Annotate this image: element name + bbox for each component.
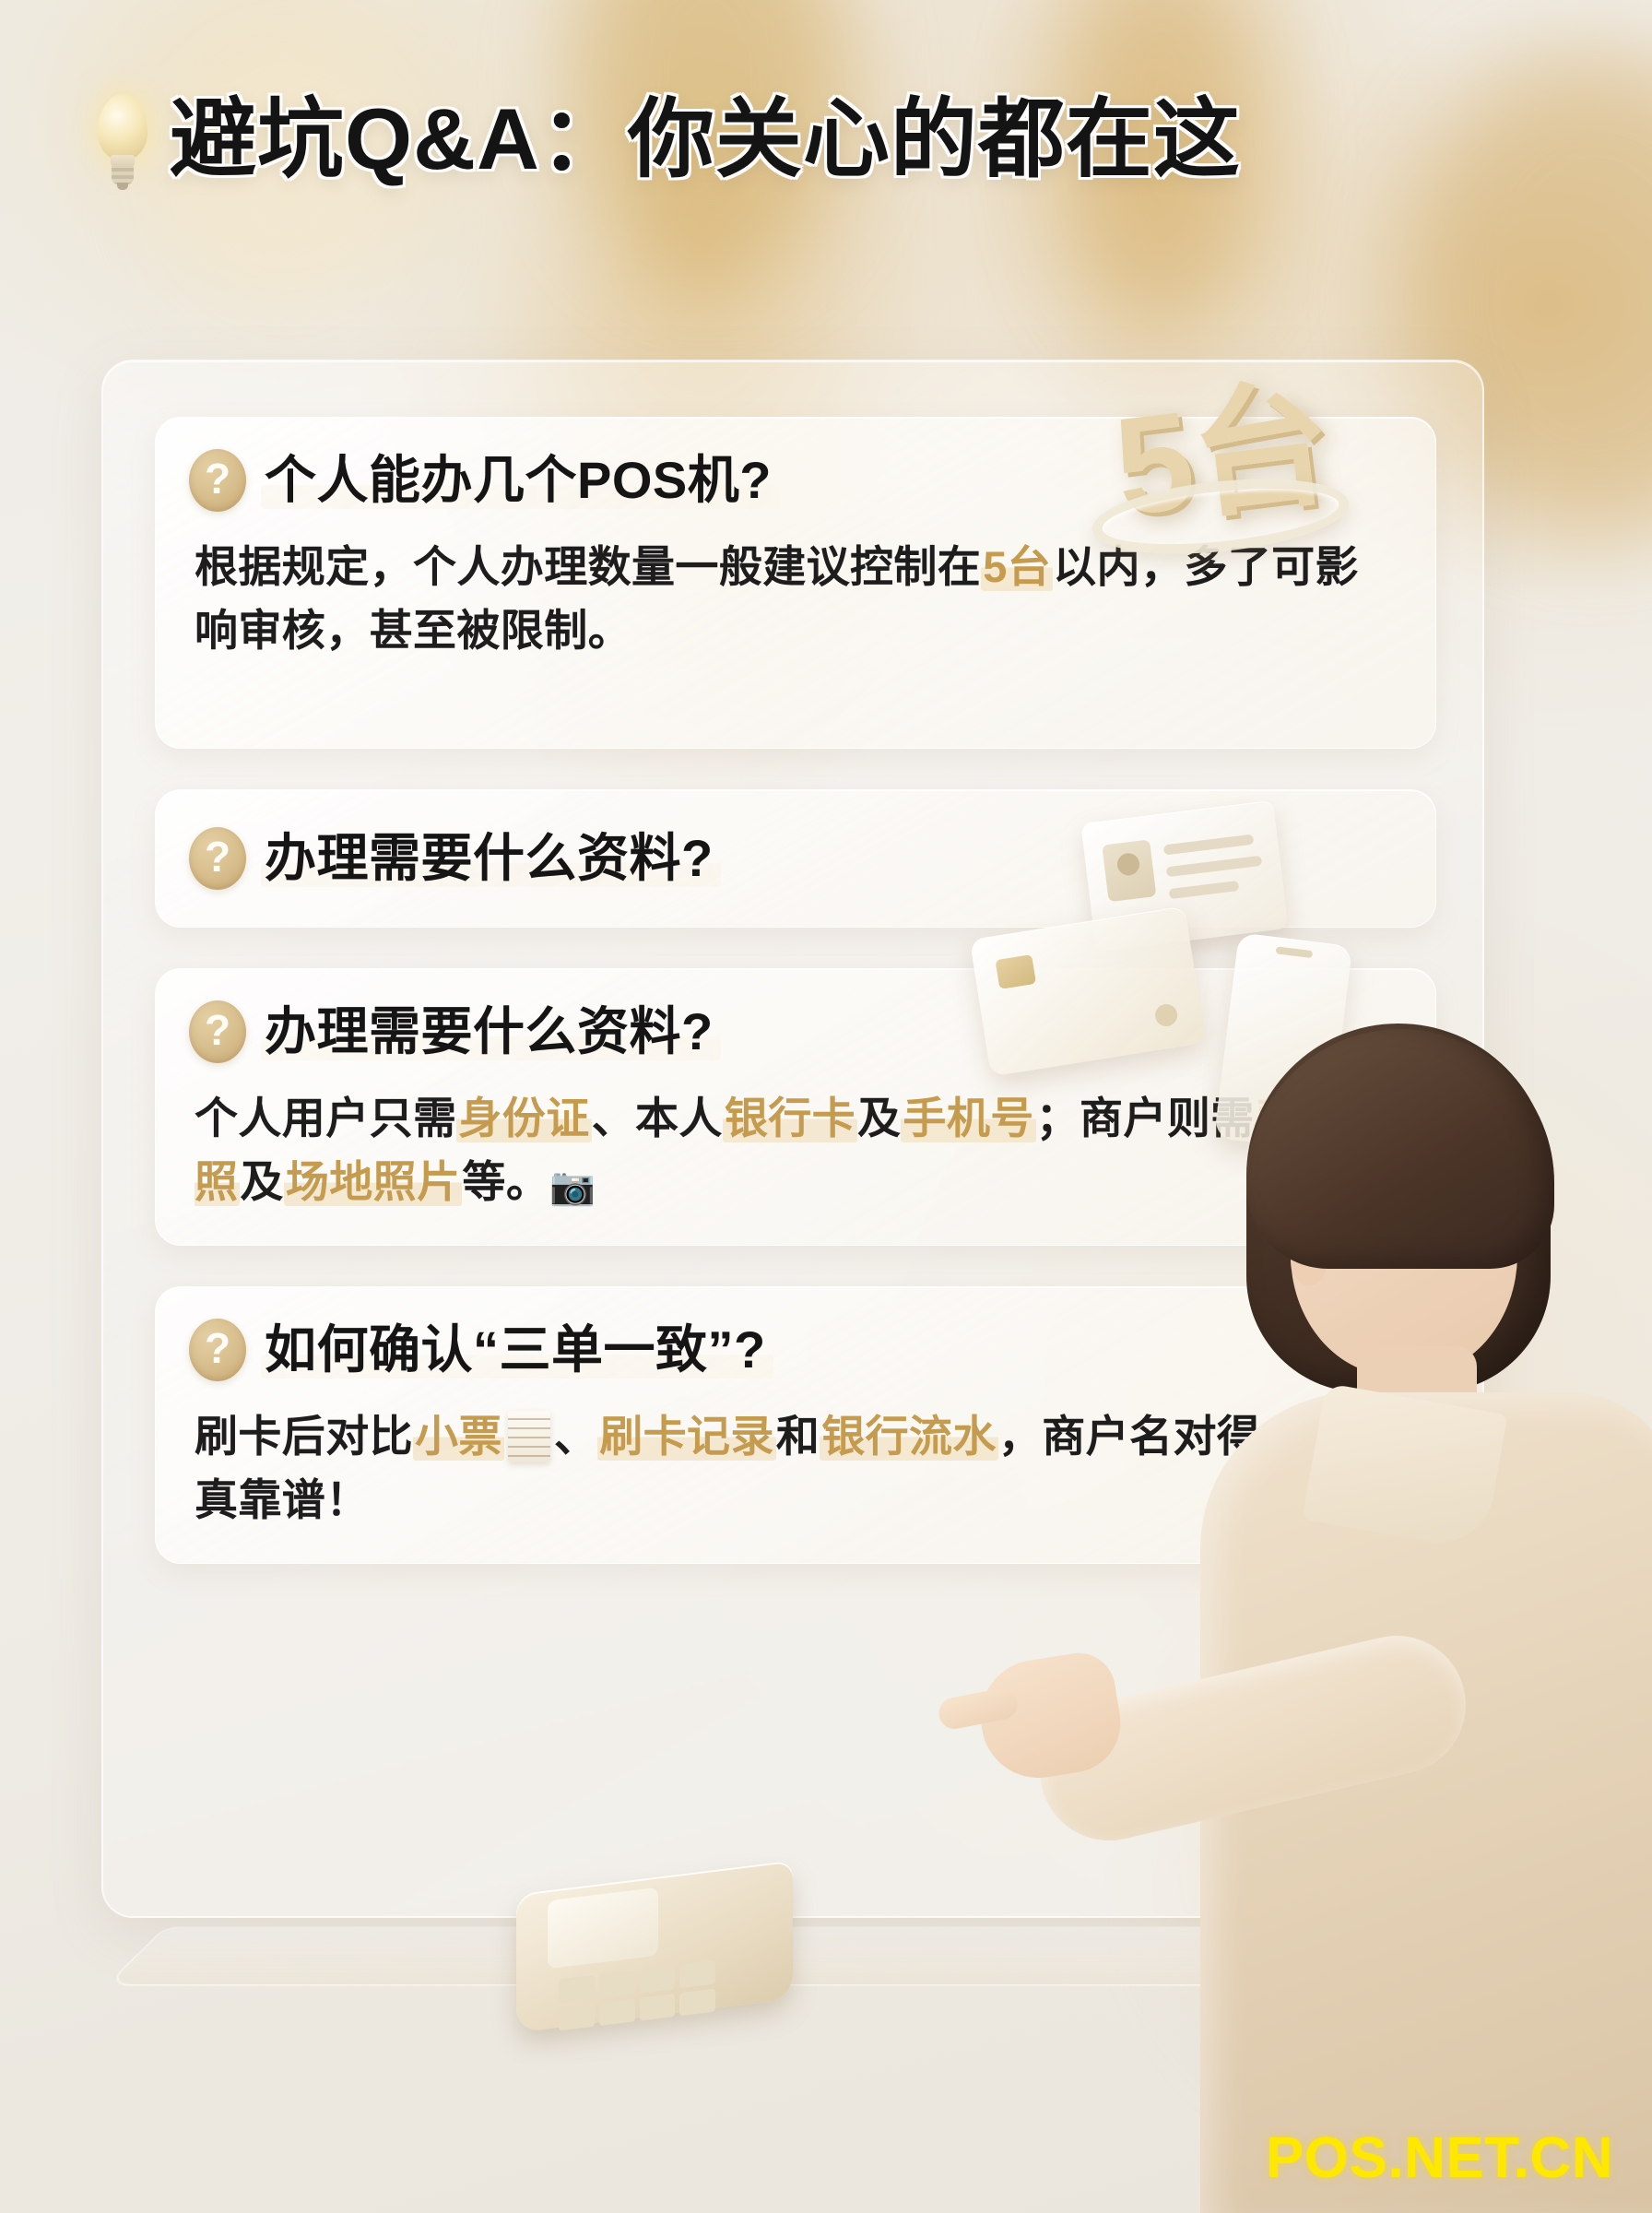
pos-key: [640, 1965, 676, 1993]
body-text-plain: 、本人: [592, 1094, 723, 1142]
page-title: 避坑Q&A：你关心的都在这: [170, 94, 1241, 185]
body-text-highlight: 5台: [981, 542, 1053, 591]
body-text-highlight: 刷卡记录: [597, 1412, 776, 1461]
bulb-base: [112, 164, 134, 184]
pos-key: [559, 2003, 595, 2030]
qa-card[interactable]: ? 办理需要什么资料?: [155, 789, 1436, 928]
pos-terminal-screen: [548, 1888, 658, 1970]
question-badge-icon: ?: [189, 827, 246, 890]
question-badge-icon: ?: [189, 1319, 246, 1381]
question-badge-icon: ?: [189, 449, 246, 512]
qa-card-title-text: 个人能办几个POS机?: [265, 451, 772, 509]
question-badge-icon: ?: [189, 1000, 246, 1063]
qa-card-title: 个人能办几个POS机?: [265, 449, 772, 511]
body-text-plain: 个人用户只需: [195, 1094, 456, 1142]
pos-key: [559, 1975, 595, 2003]
qa-card-header: ? 个人能办几个POS机?: [189, 449, 1395, 512]
pos-terminal-icon: [516, 1853, 820, 2029]
qa-card[interactable]: ? 个人能办几个POS机? 根据规定，个人办理数量一般建议控制在5台以内，多了可…: [155, 417, 1436, 749]
qa-card-title: 办理需要什么资料?: [265, 827, 714, 889]
body-text-highlight: 场地照片: [284, 1157, 463, 1206]
bulb-tip: [117, 183, 128, 190]
qa-card-title: 如何确认“三单一致”?: [265, 1319, 766, 1380]
pos-key: [640, 1993, 676, 2020]
pos-key: [679, 1960, 715, 1988]
body-text-plain: 及: [240, 1157, 283, 1206]
receipt-icon: [508, 1411, 550, 1462]
qa-card-header: ? 办理需要什么资料?: [189, 827, 1395, 890]
bulb-glass: [98, 94, 147, 160]
pos-key: [599, 1998, 635, 2026]
woman-character-illustration: [970, 1024, 1652, 2213]
body-text-highlight: 小票: [413, 1412, 504, 1461]
pos-key: [679, 1988, 715, 2016]
body-text-plain: 刷卡后对比: [195, 1412, 413, 1461]
poster-canvas: 避坑Q&A：你关心的都在这 5台 ? 个人能办几个POS机?: [0, 0, 1652, 2213]
qa-card-title-text: 如何确认“三单一致”?: [265, 1320, 766, 1379]
site-watermark: POS.NET.CN: [1266, 2125, 1613, 2191]
body-text-plain: 、: [554, 1412, 597, 1461]
body-text-plain: 及: [857, 1094, 901, 1142]
camera-icon: 📷: [549, 1166, 596, 1207]
body-text-plain: 等。: [462, 1157, 549, 1206]
body-text-highlight: 银行卡: [723, 1094, 857, 1142]
page-header: 避坑Q&A：你关心的都在这: [88, 89, 1241, 190]
lightbulb-icon: [88, 89, 157, 190]
body-text-plain: 根据规定，个人办理数量一般建议控制在: [195, 542, 981, 591]
body-text-highlight: 身份证: [456, 1094, 591, 1142]
qa-card-body: 根据规定，个人办理数量一般建议控制在5台以内，多了可影响审核，甚至被限制。: [189, 536, 1395, 662]
qa-card-title: 办理需要什么资料?: [265, 1000, 714, 1062]
qa-card-title-text: 办理需要什么资料?: [265, 1002, 714, 1060]
qa-card-title-text: 办理需要什么资料?: [265, 829, 714, 887]
pos-key: [599, 1970, 635, 1997]
body-text-plain: 和: [776, 1412, 820, 1461]
